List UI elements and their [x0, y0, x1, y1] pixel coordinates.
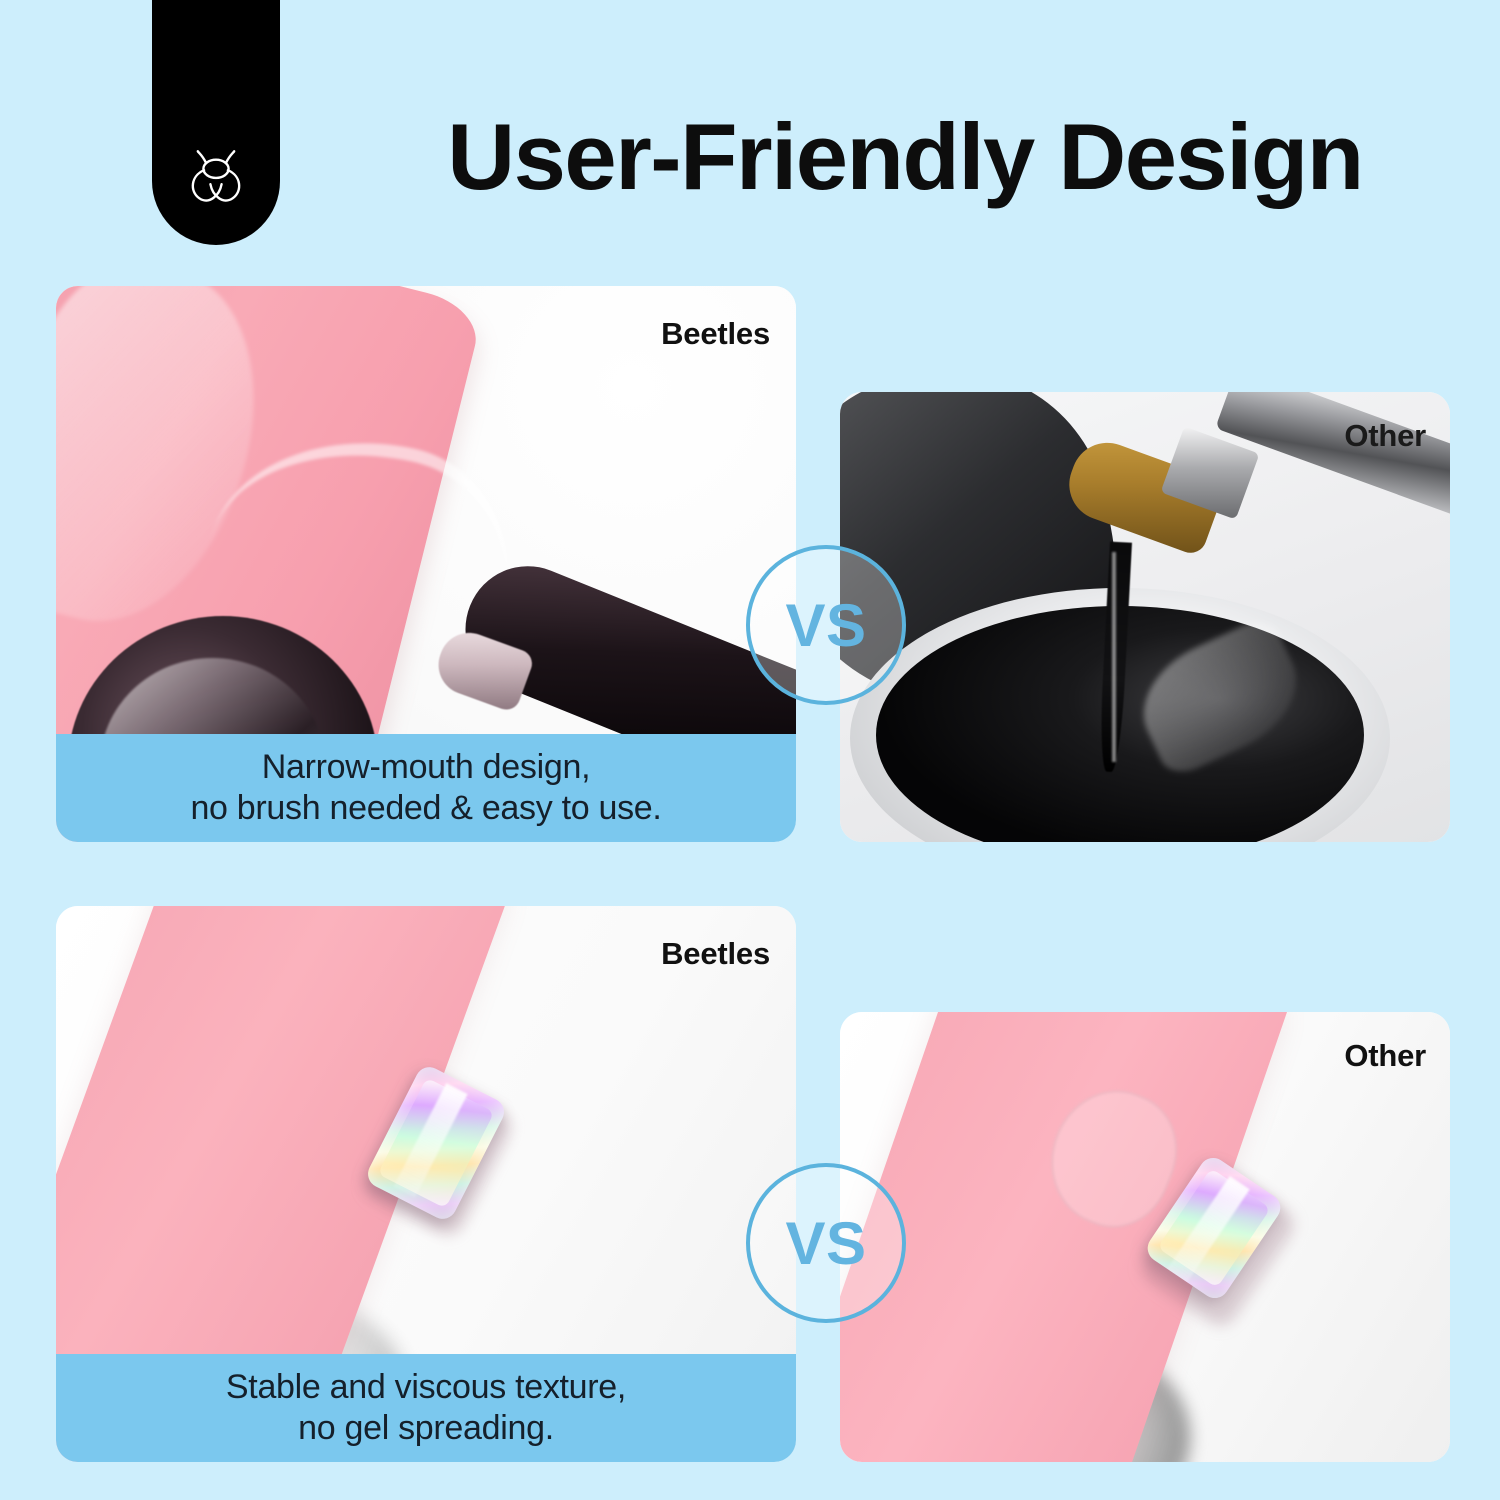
comparison-1-caption: Narrow-mouth design, no brush needed & e… — [56, 734, 796, 842]
vs-badge-1: VS — [746, 545, 906, 705]
other-brand-tag: Other — [1344, 1038, 1426, 1074]
comparison-1-other-panel: Other — [840, 392, 1450, 842]
comparison-2-other-panel: Other — [840, 1012, 1450, 1462]
page-header: User-Friendly Design — [0, 0, 1500, 262]
beetle-logo-icon — [181, 145, 251, 215]
brand-logo-pill — [152, 0, 280, 245]
beetles-brand-tag: Beetles — [661, 936, 770, 972]
page-title: User-Friendly Design — [390, 108, 1420, 207]
caption-line-2: no brush needed & easy to use. — [190, 788, 661, 829]
vs-badge-2: VS — [746, 1163, 906, 1323]
pink-nail-spreading-gel-rhinestone-photo — [840, 1012, 1450, 1462]
other-brand-tag: Other — [1344, 418, 1426, 454]
comparison-2-caption: Stable and viscous texture, no gel sprea… — [56, 1354, 796, 1462]
caption-line-1: Narrow-mouth design, — [262, 747, 590, 788]
black-gel-pot-with-brush-photo — [840, 392, 1450, 842]
caption-line-1: Stable and viscous texture, — [226, 1367, 626, 1408]
beetles-brand-tag: Beetles — [661, 316, 770, 352]
caption-line-2: no gel spreading. — [298, 1408, 554, 1449]
comparison-1-beetles-panel: Beetles Narrow-mouth design, no brush ne… — [56, 286, 796, 842]
